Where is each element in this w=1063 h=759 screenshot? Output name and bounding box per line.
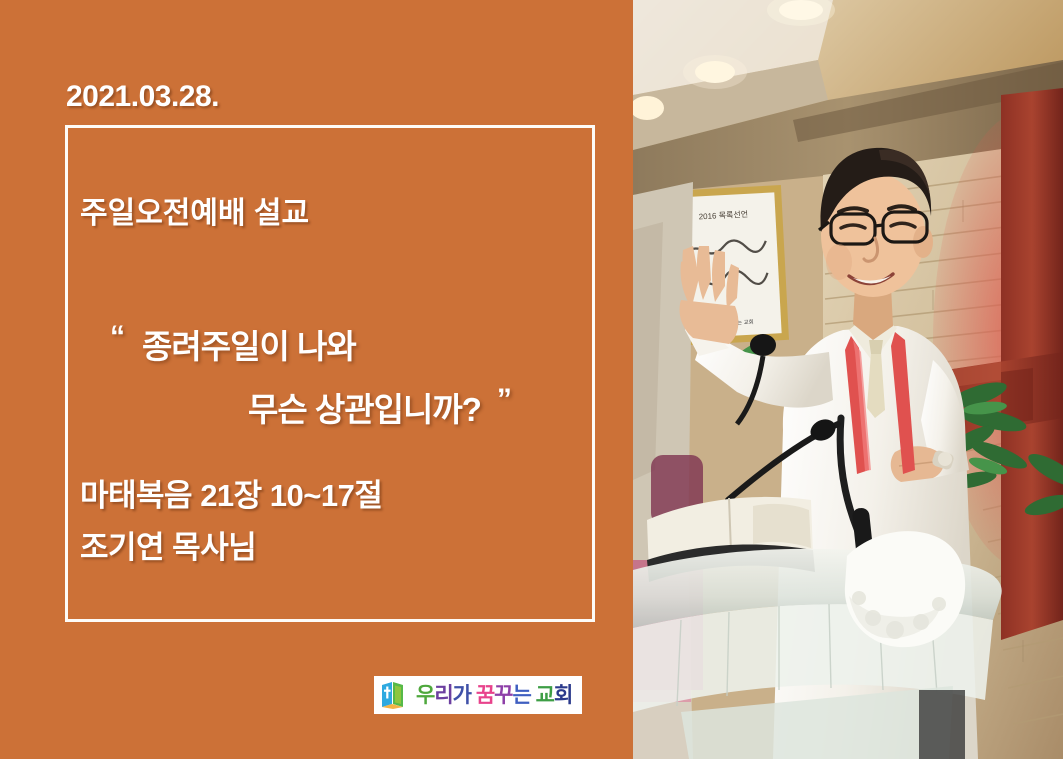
logo-char-7: 교 [531,684,554,707]
sermon-slide: 2021.03.28. 주일오전예배 설교 “종려주일이 나와 무슨 상관입니까… [0,0,1063,759]
church-logo: 우리가 꿈꾸는 교회 [374,676,582,714]
service-type-label: 주일오전예배 설교 [80,188,309,232]
close-quote-mark: ” [497,383,511,416]
sermon-title-text-2: 무슨 상관입니까? [248,391,481,428]
photo-illustration: 2016 목록선언 우리가 꿈꾸는 교회 [633,0,1063,759]
sermon-title-text-1: 종려주일이 나와 [142,328,356,365]
logo-char-2: 리 [434,684,452,707]
sermon-date: 2021.03.28. [66,80,219,114]
left-text-panel: 2021.03.28. 주일오전예배 설교 “종려주일이 나와 무슨 상관입니까… [0,0,633,759]
logo-char-3: 가 [453,684,471,707]
scripture-reference: 마태복음 21장 10~17절 [80,470,382,515]
preacher-photograph: 2016 목록선언 우리가 꿈꾸는 교회 [633,0,1063,759]
logo-char-1: 우 [416,684,434,707]
sermon-title-line-1: “종려주일이 나와 [110,320,356,368]
open-quote-mark: “ [110,320,124,353]
preacher-name: 조기연 목사님 [80,522,256,567]
logo-char-6: 는 [512,684,530,707]
logo-char-8: 회 [554,684,572,707]
sermon-title-line-2: 무슨 상관입니까?” [248,383,511,431]
open-door-cross-icon [380,681,410,709]
logo-char-5: 꾸 [494,684,512,707]
logo-wordmark: 우리가 꿈꾸는 교회 [416,685,572,706]
logo-char-4: 꿈 [471,684,494,707]
